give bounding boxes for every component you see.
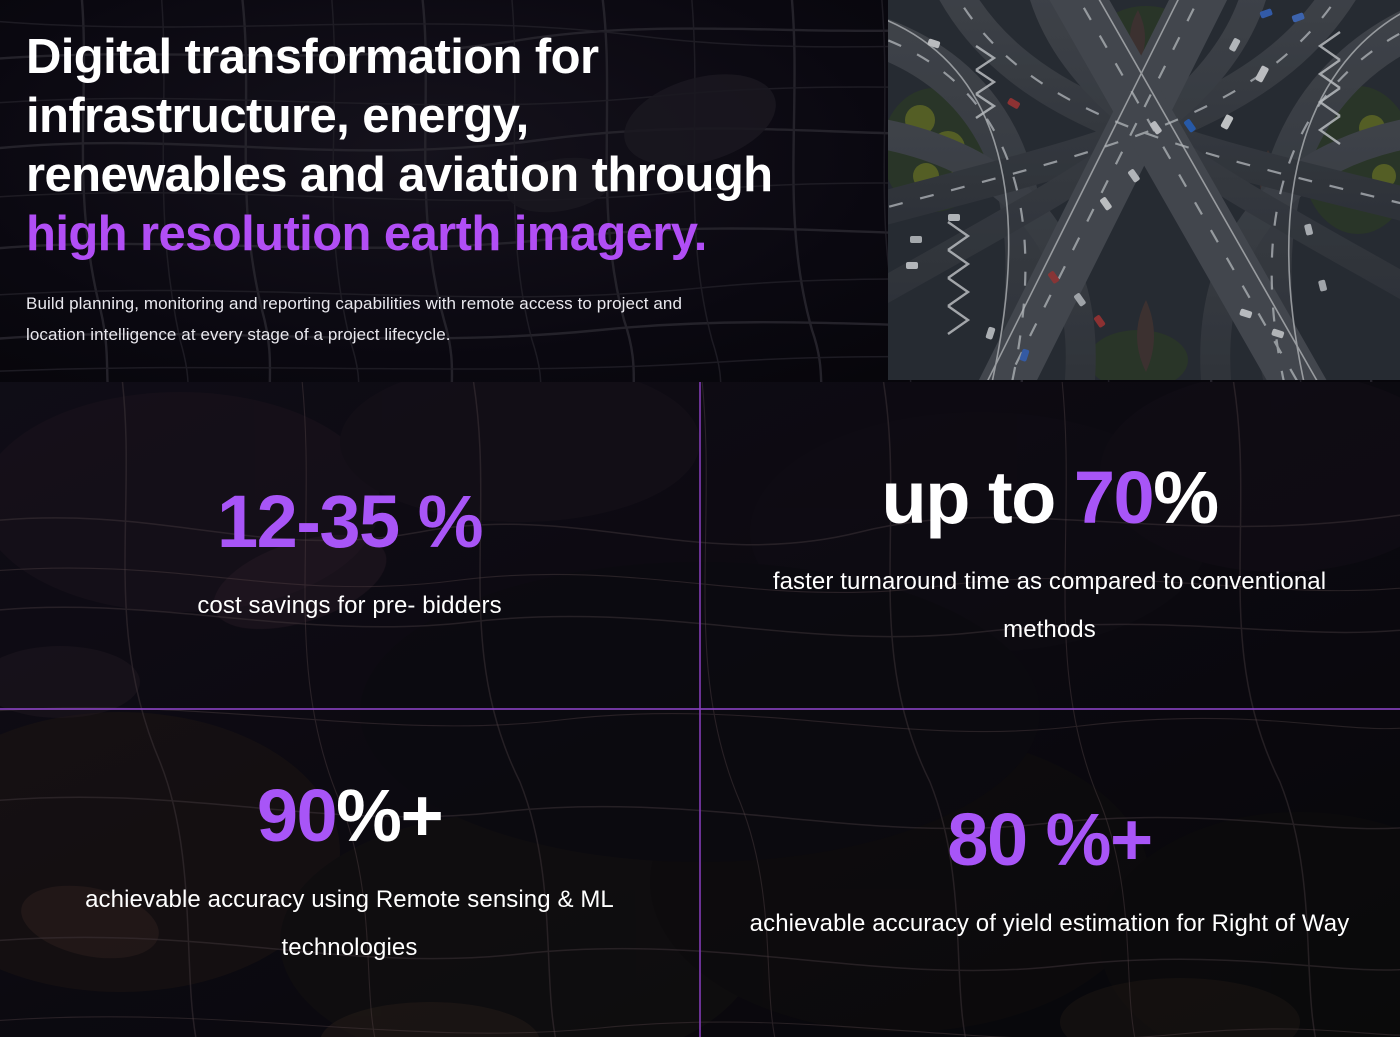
stat-label: achievable accuracy of yield estimation … [750,900,1350,948]
stat-value-part: 12-35 % [217,480,482,563]
hero-title-line-1: Digital transformation for [26,30,598,84]
stat-value-part: 70 [1074,456,1153,539]
stat-value: 90%+ [257,774,442,858]
stat-card-turnaround-time: up to 70% faster turnaround time as comp… [699,382,1400,709]
stats-section: 12-35 % cost savings for pre- bidders up… [0,382,1400,1037]
stats-horizontal-divider [0,708,1400,710]
stat-card-yield-estimation-accuracy: 80 %+ achievable accuracy of yield estim… [699,709,1400,1037]
aerial-interchange-photo [888,0,1400,380]
stat-label: cost savings for pre- bidders [197,582,501,630]
stat-card-cost-savings: 12-35 % cost savings for pre- bidders [0,382,699,709]
hero-section: Digital transformation for infrastructur… [0,0,1400,382]
page-title: Digital transformation for infrastructur… [26,28,826,264]
stat-value-part: 90 [257,774,336,857]
stat-value: up to 70% [882,456,1218,540]
landing-page: Digital transformation for infrastructur… [0,0,1400,1037]
stat-value-part: 80 %+ [947,798,1151,881]
hero-title-line-3: renewables and aviation through [26,148,772,202]
stat-value: 80 %+ [947,798,1151,882]
stat-card-remote-sensing-accuracy: 90%+ achievable accuracy using Remote se… [0,709,699,1037]
hero-title-line-2: infrastructure, energy, [26,89,529,143]
stat-value-part: % [1153,456,1217,539]
hero-copy: Digital transformation for infrastructur… [26,28,826,350]
hero-subtitle: Build planning, monitoring and reporting… [26,288,726,350]
stat-label: achievable accuracy using Remote sensing… [40,876,660,972]
stat-value: 12-35 % [217,480,482,564]
stat-label: faster turnaround time as compared to co… [740,558,1360,654]
stat-value-part: up to [882,456,1074,539]
hero-title-accent-line: high resolution earth imagery. [26,207,707,261]
stat-value-part: %+ [336,774,442,857]
